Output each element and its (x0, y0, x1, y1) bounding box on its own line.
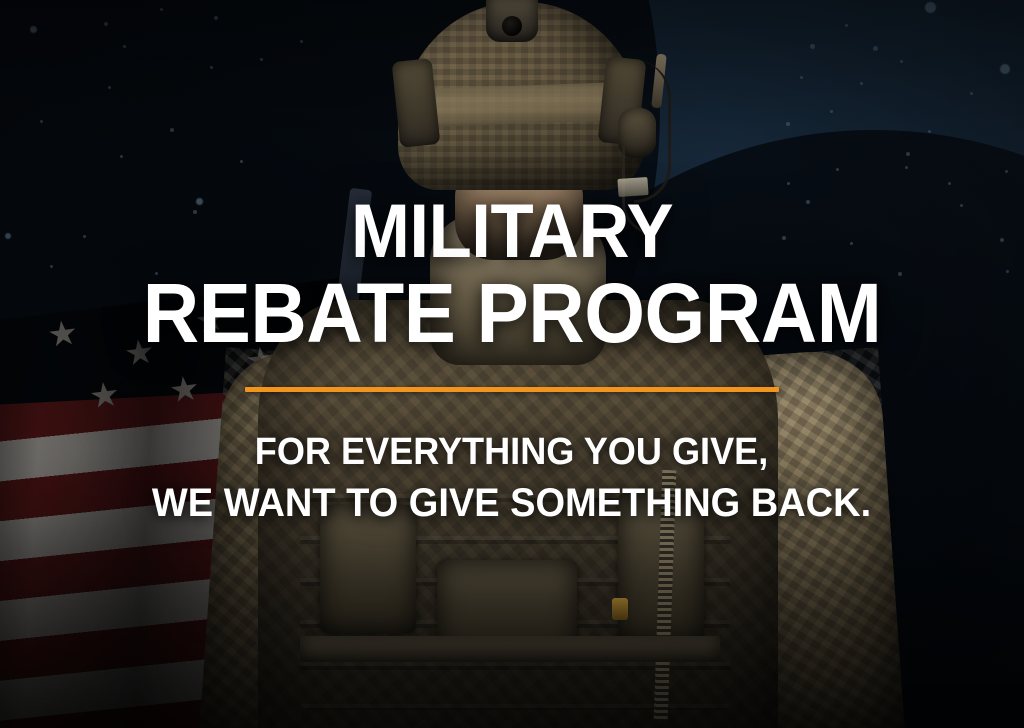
subtitle: FOR EVERYTHING YOU GIVE, WE WANT TO GIVE… (152, 392, 871, 530)
headline-line-1: MILITARY (143, 196, 882, 269)
headline-line-2: REBATE PROGRAM (143, 273, 882, 354)
subtitle-line-1: FOR EVERYTHING YOU GIVE, (152, 428, 871, 477)
military-rebate-banner: MILITARY REBATE PROGRAM FOR EVERYTHING Y… (0, 0, 1024, 728)
subtitle-line-2: WE WANT TO GIVE SOMETHING BACK. (152, 478, 871, 529)
banner-content: MILITARY REBATE PROGRAM FOR EVERYTHING Y… (0, 0, 1024, 728)
page-title: MILITARY REBATE PROGRAM (143, 0, 882, 354)
